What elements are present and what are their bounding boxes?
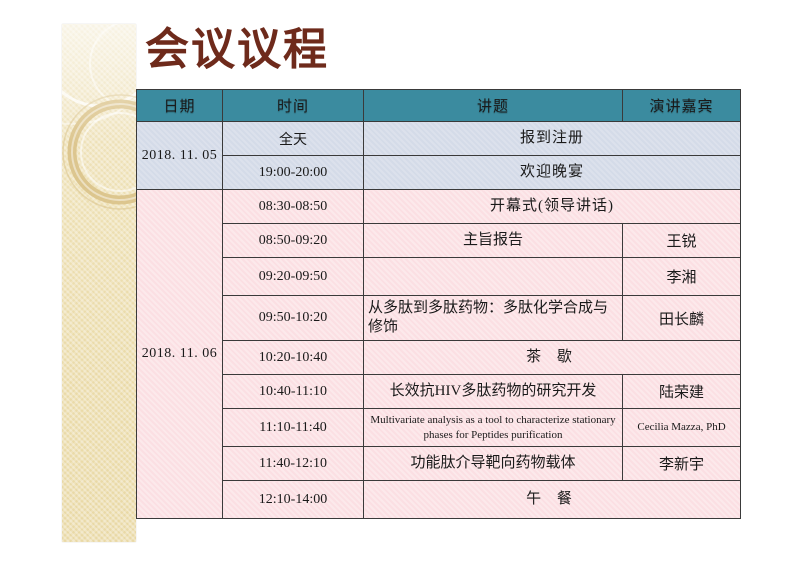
- table-row: 08:50-09:20 主旨报告 王锐: [137, 224, 741, 258]
- time-cell: 08:30-08:50: [223, 190, 364, 224]
- time-cell: 09:20-09:50: [223, 258, 364, 296]
- time-cell: 11:40-12:10: [223, 447, 364, 481]
- topic-cell: 主旨报告: [364, 224, 623, 258]
- page-title: 会议议程: [145, 28, 329, 72]
- table-row: 19:00-20:00 欢迎晚宴: [137, 156, 741, 190]
- topic-cell: 午 餐: [364, 481, 741, 519]
- topic-cell: Multivariate analysis as a tool to chara…: [364, 409, 623, 447]
- time-cell: 19:00-20:00: [223, 156, 364, 190]
- table-row: 10:20-10:40 茶 歇: [137, 341, 741, 375]
- topic-cell: 长效抗HIV多肽药物的研究开发: [364, 375, 623, 409]
- table-row: 2018. 11. 05 全天 报到注册: [137, 122, 741, 156]
- decorative-side-panel: [62, 24, 136, 542]
- speaker-cell: 李湘: [623, 258, 741, 296]
- speaker-cell: 李新宇: [623, 447, 741, 481]
- slide-canvas: 会议议程 日期 时间 讲题 演讲嘉宾 2018. 11. 05 全天 报到注: [0, 0, 800, 566]
- time-cell: 12:10-14:00: [223, 481, 364, 519]
- topic-cell: 报到注册: [364, 122, 741, 156]
- table-row: 12:10-14:00 午 餐: [137, 481, 741, 519]
- date-cell-day1: 2018. 11. 05: [137, 122, 223, 190]
- table-row: 2018. 11. 06 08:30-08:50 开幕式(领导讲话): [137, 190, 741, 224]
- topic-cell: 欢迎晚宴: [364, 156, 741, 190]
- speaker-cell: 陆荣建: [623, 375, 741, 409]
- topic-cell: 功能肽介导靶向药物载体: [364, 447, 623, 481]
- column-header-speaker: 演讲嘉宾: [623, 90, 741, 122]
- speaker-cell: Cecilia Mazza, PhD: [623, 409, 741, 447]
- time-cell: 10:20-10:40: [223, 341, 364, 375]
- topic-cell: 从多肽到多肽药物：多肽化学合成与修饰: [364, 296, 623, 341]
- column-header-time: 时间: [223, 90, 364, 122]
- table-row: 09:50-10:20 从多肽到多肽药物：多肽化学合成与修饰 田长麟: [137, 296, 741, 341]
- topic-cell: 开幕式(领导讲话): [364, 190, 741, 224]
- time-cell: 10:40-11:10: [223, 375, 364, 409]
- date-cell-day2: 2018. 11. 06: [137, 190, 223, 519]
- agenda-table: 日期 时间 讲题 演讲嘉宾 2018. 11. 05 全天 报到注册 19:00…: [136, 89, 741, 519]
- time-cell: 08:50-09:20: [223, 224, 364, 258]
- table-row: 09:20-09:50 李湘: [137, 258, 741, 296]
- table-row: 11:40-12:10 功能肽介导靶向药物载体 李新宇: [137, 447, 741, 481]
- speaker-cell: 王锐: [623, 224, 741, 258]
- time-cell: 全天: [223, 122, 364, 156]
- topic-cell: 茶 歇: [364, 341, 741, 375]
- column-header-topic: 讲题: [364, 90, 623, 122]
- time-cell: 09:50-10:20: [223, 296, 364, 341]
- table-header-row: 日期 时间 讲题 演讲嘉宾: [137, 90, 741, 122]
- decorative-rings-graphic: [62, 24, 136, 542]
- speaker-cell: 田长麟: [623, 296, 741, 341]
- table-row: 11:10-11:40 Multivariate analysis as a t…: [137, 409, 741, 447]
- time-cell: 11:10-11:40: [223, 409, 364, 447]
- topic-cell: [364, 258, 623, 296]
- agenda-table-container: 日期 时间 讲题 演讲嘉宾 2018. 11. 05 全天 报到注册 19:00…: [136, 89, 740, 519]
- table-row: 10:40-11:10 长效抗HIV多肽药物的研究开发 陆荣建: [137, 375, 741, 409]
- column-header-date: 日期: [137, 90, 223, 122]
